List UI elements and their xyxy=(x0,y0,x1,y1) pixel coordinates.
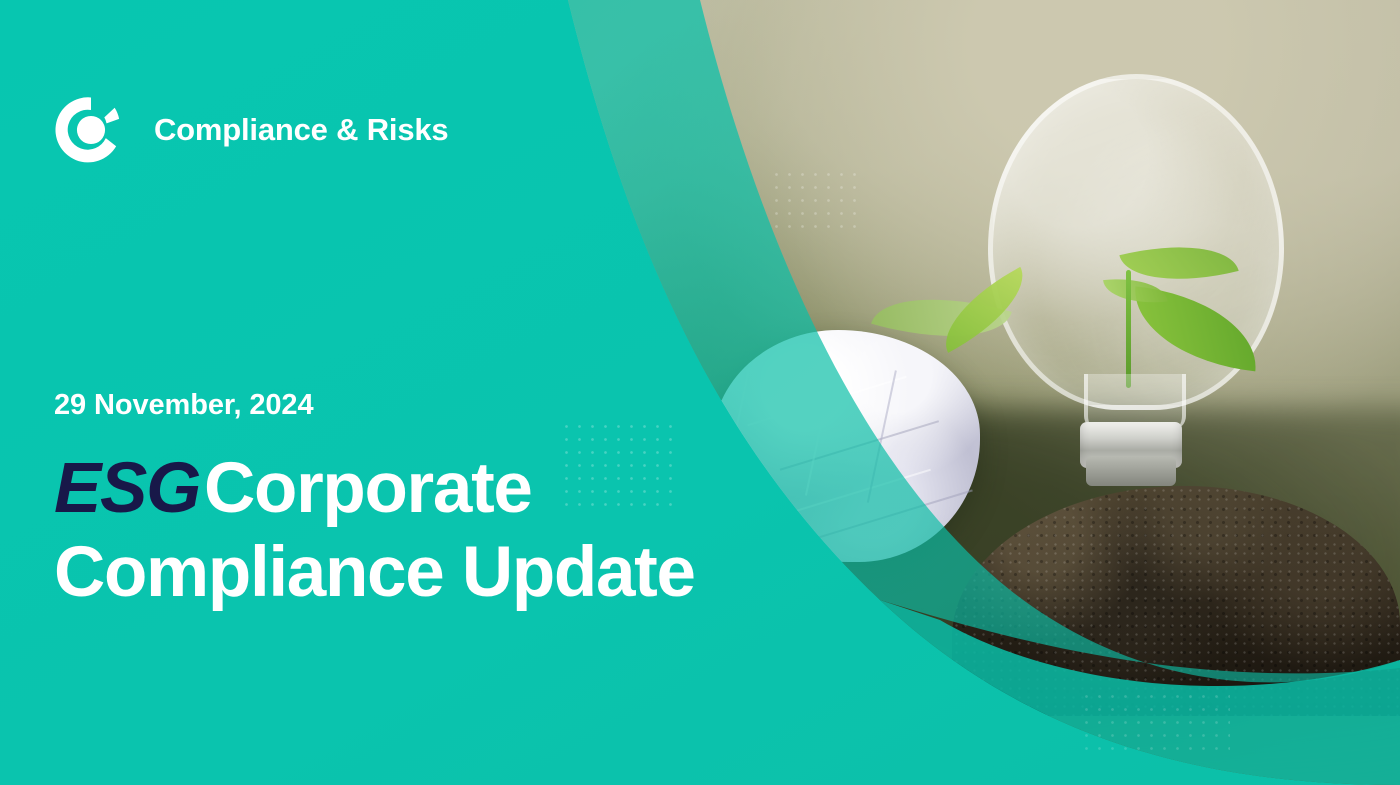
banner-content: Compliance & Risks 29 November, 2024 ESG… xyxy=(0,0,1400,785)
headline-accent: ESG xyxy=(54,449,204,528)
publication-date: 29 November, 2024 xyxy=(54,389,313,422)
headline-line-2: Compliance Update xyxy=(54,531,954,615)
brand-name: Compliance & Risks xyxy=(154,112,448,148)
esg-newsletter-banner: Compliance & Risks 29 November, 2024 ESG… xyxy=(0,0,1400,785)
headline-line-1: ESGCorporate xyxy=(54,447,954,531)
page-title: ESGCorporate Compliance Update xyxy=(54,447,954,615)
brand-logo[interactable]: Compliance & Risks xyxy=(54,93,448,167)
compliance-and-risks-circle-logo-icon xyxy=(54,93,128,167)
headline-line-1-rest: Corporate xyxy=(204,449,532,528)
